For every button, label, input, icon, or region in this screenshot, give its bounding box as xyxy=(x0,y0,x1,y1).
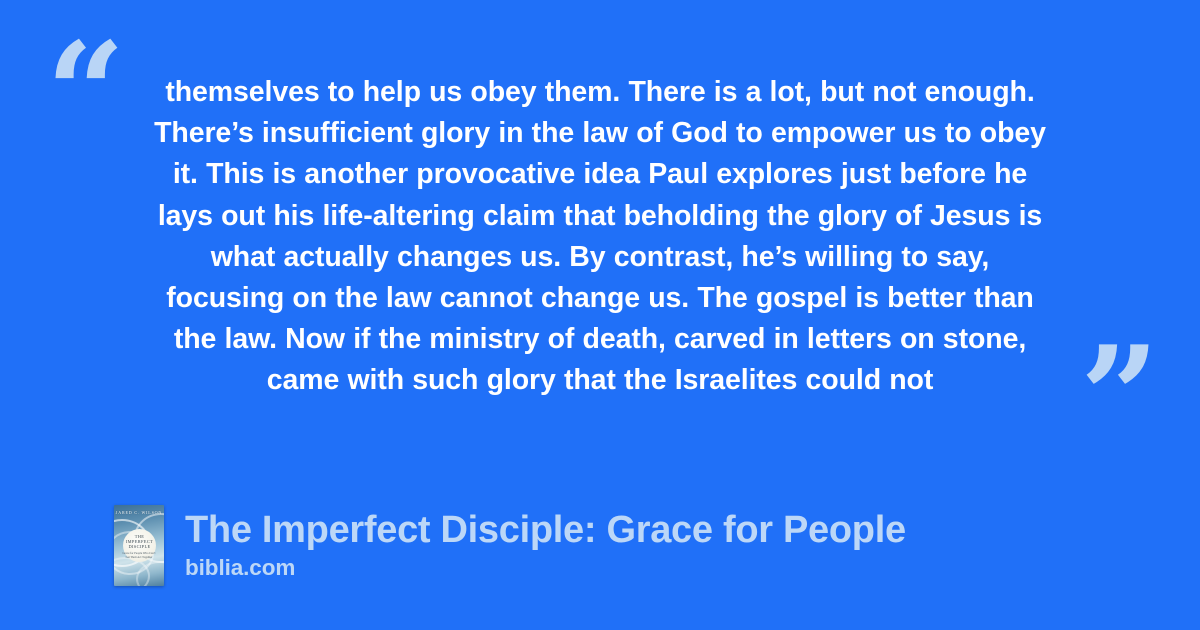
quote-text: themselves to help us obey them. There i… xyxy=(110,72,1090,402)
quote-card: “ themselves to help us obey them. There… xyxy=(0,0,1200,630)
quote-block: themselves to help us obey them. There i… xyxy=(110,72,1090,402)
footer-text-group: The Imperfect Disciple: Grace for People… xyxy=(185,505,906,581)
cover-book-title: THE IMPERFECT DISCIPLE xyxy=(123,534,156,549)
attribution-footer: JARED C. WILSON THE IMPERFECT DISCIPLE G… xyxy=(114,505,906,586)
book-cover-thumbnail: JARED C. WILSON THE IMPERFECT DISCIPLE G… xyxy=(114,505,164,586)
cover-author-name: JARED C. WILSON xyxy=(114,510,164,515)
book-title: The Imperfect Disciple: Grace for People xyxy=(185,508,906,552)
close-quote-icon: ” xyxy=(1080,328,1157,466)
site-name: biblia.com xyxy=(185,555,906,581)
cover-book-subtitle: Grace for People Who Can’t Get Their Act… xyxy=(120,552,158,559)
